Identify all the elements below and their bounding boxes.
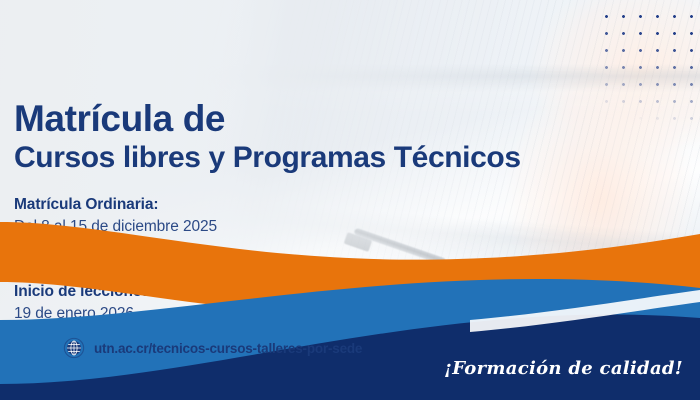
- website-url-text: utn.ac.cr/tecnicos-cursos-talleres-por-s…: [94, 341, 362, 356]
- tagline: ¡Formación de calidad!: [444, 358, 683, 379]
- website-link[interactable]: utn.ac.cr/tecnicos-cursos-talleres-por-s…: [63, 337, 362, 359]
- page-title: Matrícula de Cursos libres y Programas T…: [14, 100, 521, 173]
- promotional-banner: Matrícula de Cursos libres y Programas T…: [0, 0, 700, 400]
- headline-line-1: Matrícula de: [14, 100, 521, 137]
- dot-grid-decoration: [594, 2, 700, 120]
- globe-icon: [63, 337, 85, 359]
- headline-line-2: Cursos libres y Programas Técnicos: [14, 143, 521, 173]
